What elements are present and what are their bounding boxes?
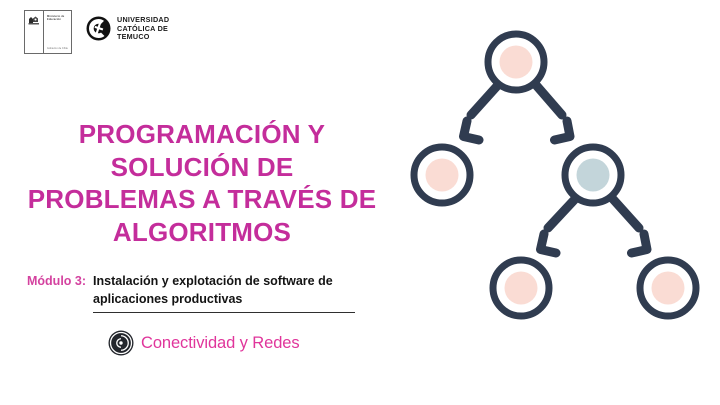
edge-child-right-to-leaf-right [612,198,647,253]
module-label: Módulo 3: [27,272,86,290]
ministry-text-column: Ministerio de Educación Gobierno de Chil… [44,11,71,53]
module-text-wrapper: Instalación y explotación de software de… [93,272,388,308]
edge-child-right-to-leaf-left [541,198,577,253]
university-logo-text: UNIVERSIDAD CATÓLICA DE TEMUCO [117,16,169,42]
title-line-2: SOLUCIÓN DE [0,151,404,184]
coat-of-arms-icon [28,15,40,26]
module-subtitle: Módulo 3: Instalación y explotación de s… [27,272,388,308]
page-title: PROGRAMACIÓN Y SOLUCIÓN DE PROBLEMAS A T… [0,118,404,248]
module-description: Instalación y explotación de software de… [93,272,388,308]
brand-lockup: Conectividad y Redes [108,330,300,356]
ministry-of-education-logo: Ministerio de Educación Gobierno de Chil… [24,10,72,54]
edge-root-to-child-left [464,85,499,140]
ministry-crest-column [25,11,44,53]
header-logo-bar: Ministerio de Educación Gobierno de Chil… [24,10,169,54]
slide-canvas: Ministerio de Educación Gobierno de Chil… [0,0,720,405]
module-underline-rule [93,312,355,313]
brand-name: Conectividad y Redes [141,333,300,353]
edge-root-to-child-right [536,85,570,140]
radio-waves-icon [108,330,134,356]
university-emblem-icon [86,16,111,41]
tree-node-child-left [414,147,470,203]
tree-node-child-right [565,147,621,203]
title-line-1: PROGRAMACIÓN Y [0,118,404,151]
title-line-4: ALGORITMOS [0,216,404,249]
binary-tree-diagram [396,8,720,338]
tree-node-leaf-left [493,260,549,316]
title-line-3: PROBLEMAS A TRAVÉS DE [0,183,404,216]
ministry-logo-footer: Gobierno de Chile [47,47,68,50]
tree-nodes [414,34,696,316]
university-logo: UNIVERSIDAD CATÓLICA DE TEMUCO [86,16,169,42]
ministry-logo-line2: Educación [47,18,69,21]
tree-node-root [488,34,544,90]
tree-node-leaf-right [640,260,696,316]
